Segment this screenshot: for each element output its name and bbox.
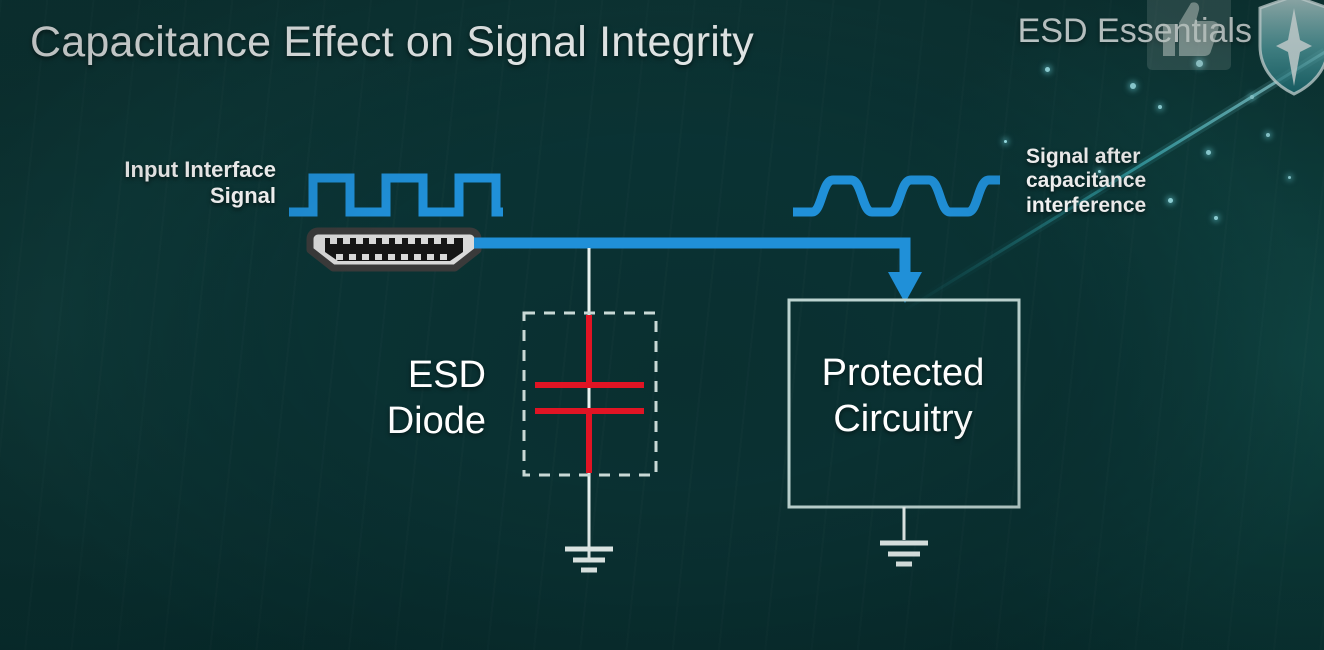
ideal-square-waveform	[289, 178, 503, 212]
circuit-diagram	[0, 0, 1324, 650]
ground-symbol-right	[880, 543, 928, 564]
degraded-waveform	[793, 180, 1000, 212]
slide-canvas: Capacitance Effect on Signal Integrity E…	[0, 0, 1324, 650]
hdmi-connector	[310, 231, 478, 268]
protected-circuitry-block	[789, 300, 1019, 507]
signal-trace	[474, 243, 922, 303]
